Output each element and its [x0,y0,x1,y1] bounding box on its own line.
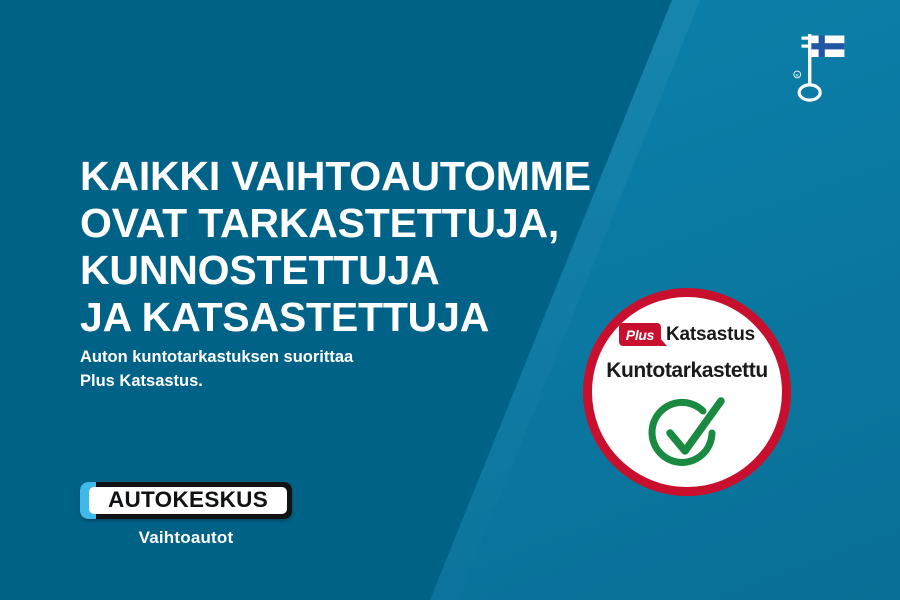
autokeskus-wordmark: AUTOKESKUS [108,489,268,512]
subheading-line-2: Plus Katsastus. [80,369,500,393]
promo-banner: R KAIKKI VAIHTOAUTOMME OVAT TARKASTETTUJ… [0,0,900,600]
key-flag-icon: R [789,29,859,103]
badge-brand-row: Plus Katsastus [592,323,782,346]
plus-logo-icon: Plus [619,323,661,346]
badge-inner: Plus Katsastus Kuntotarkastettu [592,297,782,487]
headline-line-2: OVAT TARKASTETTUJA, [80,200,680,247]
autokeskus-plate-inner: AUTOKESKUS [89,487,287,514]
plus-logo-label: Plus [626,328,654,342]
autokeskus-plate: AUTOKESKUS [80,482,292,519]
headline-line-4: JA KATSASTETTUJA [80,294,680,341]
plus-logo-tail [659,337,667,346]
autokeskus-logo[interactable]: AUTOKESKUS Vaihtoautot [80,482,292,548]
subheading-line-1: Auton kuntotarkastuksen suorittaa [80,345,500,369]
autokeskus-sub-label: Vaihtoautot [80,528,292,548]
headline-line-1: KAIKKI VAIHTOAUTOMME [80,153,680,200]
green-check-circle-icon [637,389,737,481]
badge-title: Kuntotarkastettu [592,359,782,383]
headline: KAIKKI VAIHTOAUTOMME OVAT TARKASTETTUJA,… [80,153,680,341]
kuntotarkastettu-badge: Plus Katsastus Kuntotarkastettu [583,288,791,496]
badge-brand-name: Katsastus [666,325,755,344]
subheading: Auton kuntotarkastuksen suorittaa Plus K… [80,345,500,393]
headline-line-3: KUNNOSTETTUJA [80,247,680,294]
